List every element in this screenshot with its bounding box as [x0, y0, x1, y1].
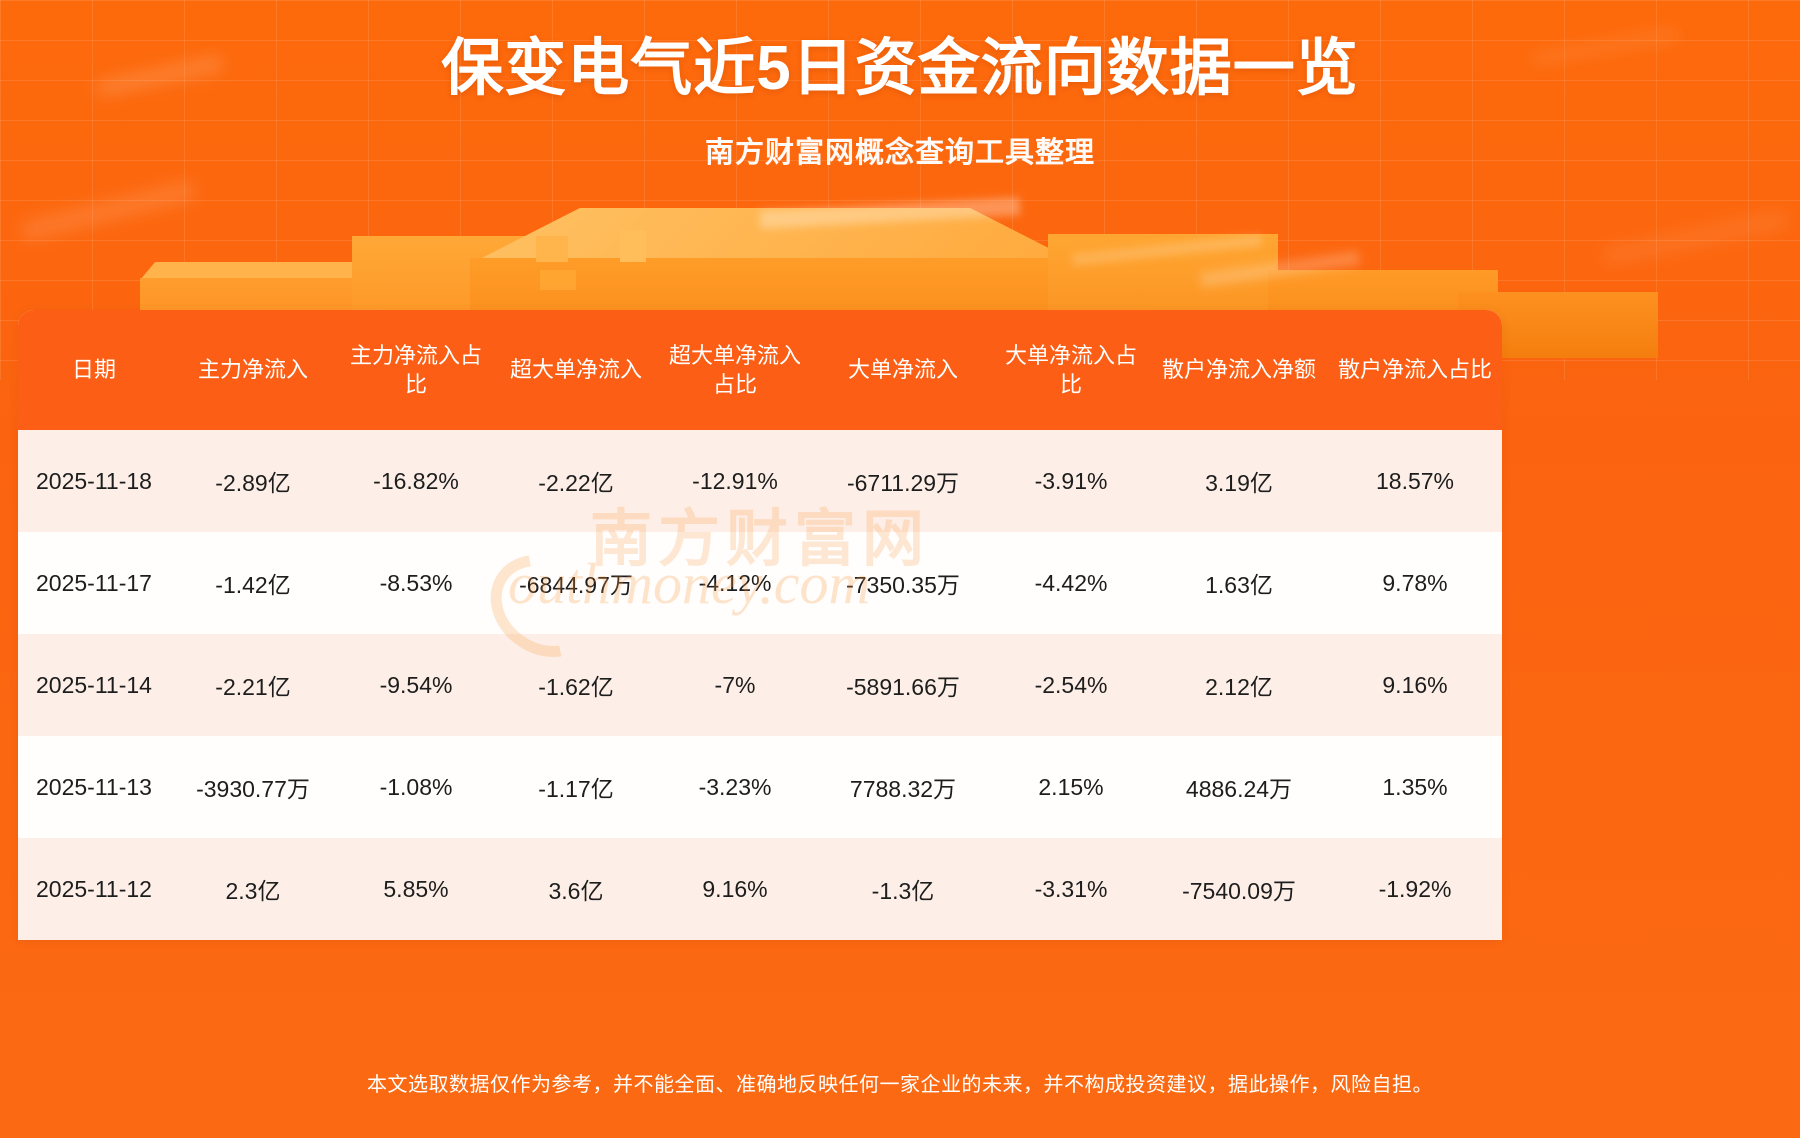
light-streak-decoration	[18, 179, 198, 244]
cell-xl-pct: -4.12%	[656, 532, 814, 634]
table-row: 2025-11-14 -2.21亿 -9.54% -1.62亿 -7% -589…	[18, 634, 1502, 736]
cell-xl-pct: 9.16%	[656, 838, 814, 940]
page-subtitle: 南方财富网概念查询工具整理	[0, 129, 1800, 171]
cell-lg-pct: -3.91%	[992, 430, 1150, 532]
table-body: 2025-11-18 -2.89亿 -16.82% -2.22亿 -12.91%…	[18, 430, 1502, 940]
podium-block	[540, 270, 576, 290]
cell-date: 2025-11-14	[18, 634, 170, 736]
cell-xl-net: -2.22亿	[496, 430, 656, 532]
cell-main-pct: -16.82%	[336, 430, 496, 532]
column-header-retail-net: 散户净流入净额	[1150, 310, 1328, 430]
cell-lg-pct: 2.15%	[992, 736, 1150, 838]
cell-retail-net: 3.19亿	[1150, 430, 1328, 532]
light-streak-decoration	[1600, 208, 1790, 267]
table-row: 2025-11-18 -2.89亿 -16.82% -2.22亿 -12.91%…	[18, 430, 1502, 532]
cell-main-pct: -9.54%	[336, 634, 496, 736]
column-header-xl-net: 超大单净流入	[496, 310, 656, 430]
cell-lg-net: -7350.35万	[814, 532, 992, 634]
table-header: 日期 主力净流入 主力净流入占比 超大单净流入 超大单净流入占比 大单净流入 大…	[18, 310, 1502, 430]
cell-xl-net: 3.6亿	[496, 838, 656, 940]
cell-date: 2025-11-18	[18, 430, 170, 532]
cell-lg-pct: -3.31%	[992, 838, 1150, 940]
cell-lg-net: -6711.29万	[814, 430, 992, 532]
cell-retail-net: -7540.09万	[1150, 838, 1328, 940]
cell-lg-net: -5891.66万	[814, 634, 992, 736]
cell-lg-net: -1.3亿	[814, 838, 992, 940]
cell-lg-net: 7788.32万	[814, 736, 992, 838]
column-header-xl-pct: 超大单净流入占比	[656, 310, 814, 430]
cell-lg-pct: -2.54%	[992, 634, 1150, 736]
podium-gloss	[760, 197, 1021, 229]
title-block: 保变电气近5日资金流向数据一览 南方财富网概念查询工具整理	[0, 0, 1800, 171]
column-header-lg-net: 大单净流入	[814, 310, 992, 430]
podium-block	[140, 262, 425, 280]
page-title: 保变电气近5日资金流向数据一览	[0, 36, 1800, 103]
disclaimer-text: 本文选取数据仅作为参考，并不能全面、准确地反映任何一家企业的未来，并不构成投资建…	[0, 1068, 1800, 1097]
cell-xl-pct: -12.91%	[656, 430, 814, 532]
column-header-lg-pct: 大单净流入占比	[992, 310, 1150, 430]
cell-xl-pct: -3.23%	[656, 736, 814, 838]
cell-retail-pct: 18.57%	[1328, 430, 1502, 532]
column-header-retail-pct: 散户净流入占比	[1328, 310, 1502, 430]
cell-main-pct: 5.85%	[336, 838, 496, 940]
cell-date: 2025-11-17	[18, 532, 170, 634]
column-header-main-net: 主力净流入	[170, 310, 336, 430]
podium-block	[470, 208, 1080, 264]
cell-xl-net: -6844.97万	[496, 532, 656, 634]
cell-retail-net: 1.63亿	[1150, 532, 1328, 634]
podium-block	[620, 230, 646, 262]
cell-retail-pct: 1.35%	[1328, 736, 1502, 838]
cell-lg-pct: -4.42%	[992, 532, 1150, 634]
cell-retail-net: 2.12亿	[1150, 634, 1328, 736]
cell-main-pct: -8.53%	[336, 532, 496, 634]
podium-gloss	[1072, 234, 1262, 266]
table-row: 2025-11-12 2.3亿 5.85% 3.6亿 9.16% -1.3亿 -…	[18, 838, 1502, 940]
cell-xl-pct: -7%	[656, 634, 814, 736]
cell-xl-net: -1.62亿	[496, 634, 656, 736]
cell-retail-pct: -1.92%	[1328, 838, 1502, 940]
cell-main-net: -2.21亿	[170, 634, 336, 736]
fund-flow-table-card: 日期 主力净流入 主力净流入占比 超大单净流入 超大单净流入占比 大单净流入 大…	[18, 310, 1502, 940]
fund-flow-table: 日期 主力净流入 主力净流入占比 超大单净流入 超大单净流入占比 大单净流入 大…	[18, 310, 1502, 940]
cell-date: 2025-11-13	[18, 736, 170, 838]
cell-main-net: -3930.77万	[170, 736, 336, 838]
column-header-main-pct: 主力净流入占比	[336, 310, 496, 430]
cell-retail-pct: 9.16%	[1328, 634, 1502, 736]
table-row: 2025-11-13 -3930.77万 -1.08% -1.17亿 -3.23…	[18, 736, 1502, 838]
cell-date: 2025-11-12	[18, 838, 170, 940]
cell-main-net: -2.89亿	[170, 430, 336, 532]
cell-retail-net: 4886.24万	[1150, 736, 1328, 838]
cell-xl-net: -1.17亿	[496, 736, 656, 838]
column-header-date: 日期	[18, 310, 170, 430]
cell-main-net: 2.3亿	[170, 838, 336, 940]
table-row: 2025-11-17 -1.42亿 -8.53% -6844.97万 -4.12…	[18, 532, 1502, 634]
podium-block	[536, 236, 568, 262]
cell-main-pct: -1.08%	[336, 736, 496, 838]
table-header-row: 日期 主力净流入 主力净流入占比 超大单净流入 超大单净流入占比 大单净流入 大…	[18, 310, 1502, 430]
cell-main-net: -1.42亿	[170, 532, 336, 634]
fund-flow-poster: 保变电气近5日资金流向数据一览 南方财富网概念查询工具整理 日期 主力净流入	[0, 0, 1800, 1138]
podium-gloss	[1200, 251, 1360, 287]
cell-retail-pct: 9.78%	[1328, 532, 1502, 634]
